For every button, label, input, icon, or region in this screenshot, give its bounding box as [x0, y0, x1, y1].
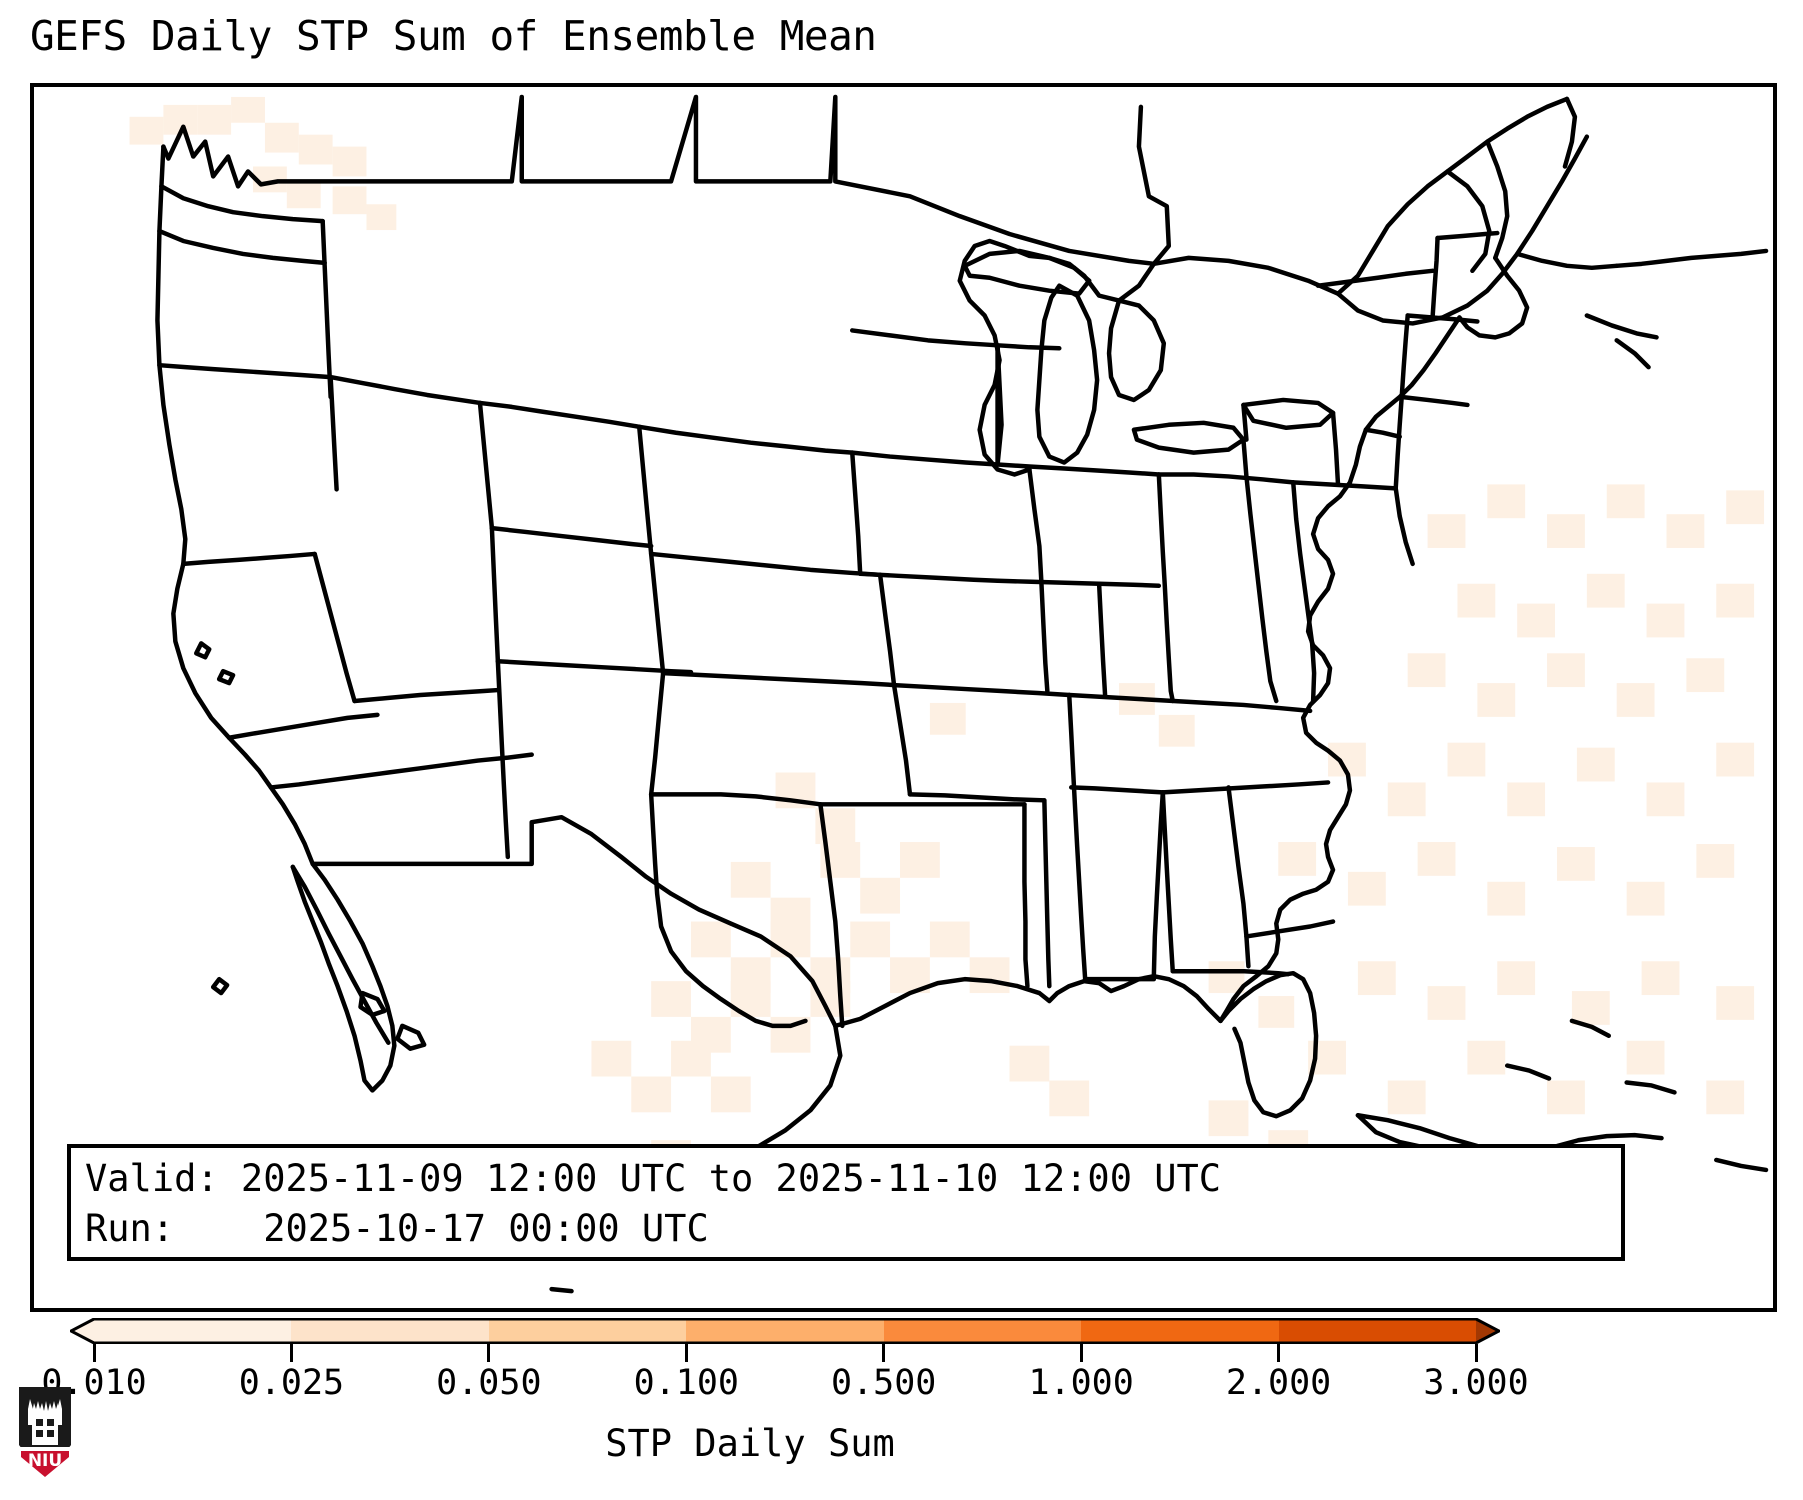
map-canvas	[34, 87, 1773, 1308]
colorbar-tick-label-5: 1.000	[1028, 1366, 1133, 1401]
colorbar-tick-label-2: 0.050	[436, 1366, 541, 1401]
colorbar-segment-2	[489, 1318, 686, 1344]
colorbar-tick-label-7: 3.000	[1423, 1366, 1528, 1401]
colorbar[interactable]	[70, 1318, 1500, 1344]
geography-layer	[34, 87, 1773, 1308]
colorbar-gradient	[94, 1318, 1476, 1344]
colorbar-extend-over-arrow	[1476, 1318, 1500, 1344]
colorbar-extend-under-arrow	[70, 1318, 94, 1344]
colorbar-tick-3	[685, 1344, 688, 1362]
colorbar-segment-3	[686, 1318, 883, 1344]
forecast-info-box: Valid: 2025-11-09 12:00 UTC to 2025-11-1…	[67, 1144, 1625, 1261]
niu-logo-text: NIU	[28, 1451, 62, 1471]
colorbar-tick-2	[487, 1344, 490, 1362]
colorbar-axis-label: STP Daily Sum	[0, 1425, 1500, 1462]
niu-shield-logo: NIU	[16, 1383, 74, 1483]
colorbar-tick-0	[93, 1344, 96, 1362]
valid-time-line: Valid: 2025-11-09 12:00 UTC to 2025-11-1…	[85, 1154, 1621, 1204]
map-panel	[30, 83, 1777, 1312]
colorbar-tick-label-1: 0.025	[239, 1366, 344, 1401]
colorbar-tick-7	[1475, 1344, 1478, 1362]
run-time-line: Run: 2025-10-17 00:00 UTC	[85, 1204, 1621, 1254]
colorbar-tick-5	[1080, 1344, 1083, 1362]
colorbar-tick-label-4: 0.500	[831, 1366, 936, 1401]
colorbar-segment-1	[291, 1318, 488, 1344]
colorbar-segment-6	[1279, 1318, 1476, 1344]
page-title: GEFS Daily STP Sum of Ensemble Mean	[30, 16, 876, 57]
colorbar-segment-4	[884, 1318, 1081, 1344]
colorbar-segment-5	[1081, 1318, 1278, 1344]
colorbar-tick-label-6: 2.000	[1226, 1366, 1331, 1401]
colorbar-tick-label-3: 0.100	[634, 1366, 739, 1401]
colorbar-tick-4	[882, 1344, 885, 1362]
colorbar-tick-1	[290, 1344, 293, 1362]
colorbar-segment-0	[94, 1318, 291, 1344]
colorbar-tick-6	[1277, 1344, 1280, 1362]
